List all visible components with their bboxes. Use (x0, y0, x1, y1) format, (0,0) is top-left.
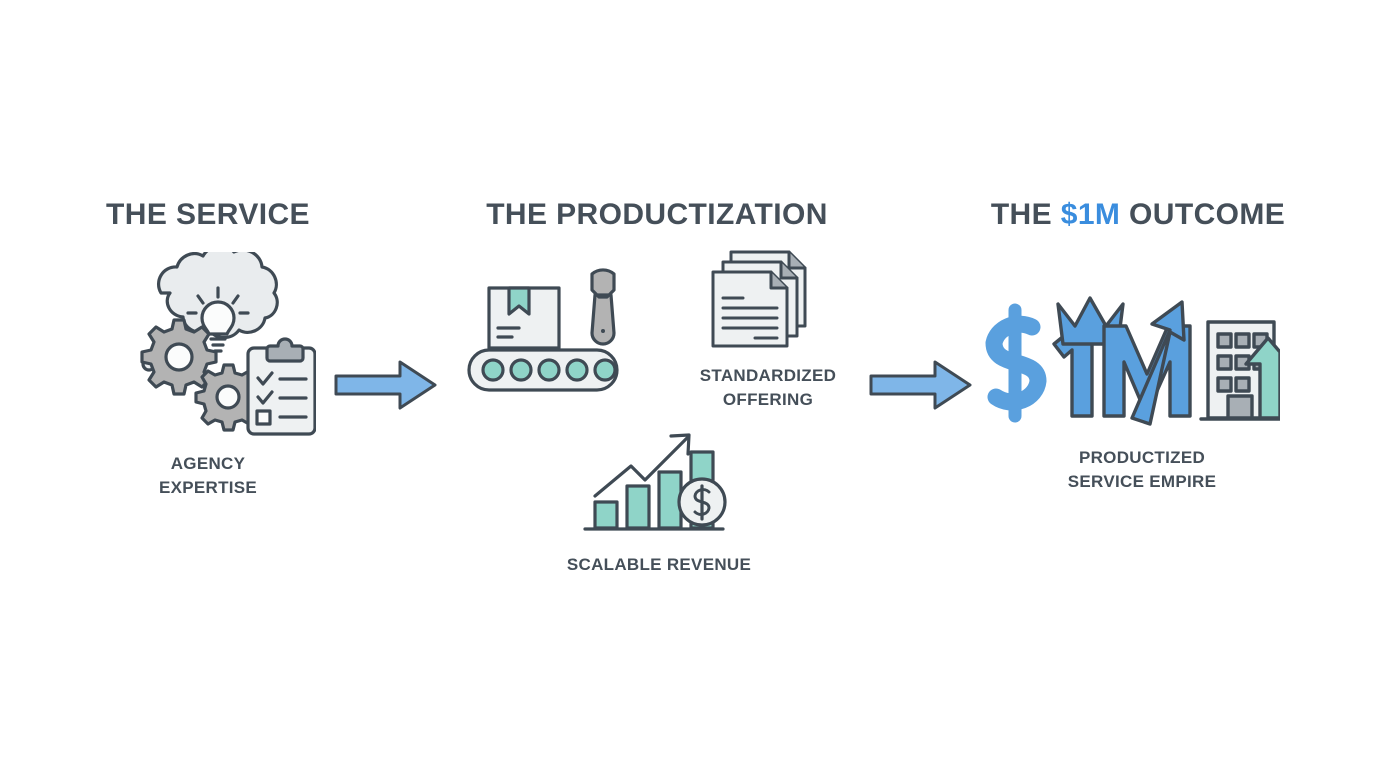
belt-icon (469, 350, 617, 390)
heading-the-1m-outcome: THE $1M OUTCOME (900, 198, 1376, 232)
caption-standardized-offering: STANDARDIZED OFFERING (662, 364, 874, 412)
standardized-documents-icon (705, 248, 813, 357)
building-door (1228, 396, 1252, 418)
wrench-icon (592, 270, 614, 344)
infographic-canvas: THE SERVICE THE PRODUCTIZATION THE $1M O… (0, 0, 1376, 768)
caption-scalable-revenue: SCALABLE REVENUE (547, 553, 771, 577)
heading-outcome-suffix: OUTCOME (1120, 198, 1285, 231)
agency-expertise-icon (104, 252, 316, 453)
heading-service-text: THE SERVICE (106, 198, 310, 231)
heading-the-productization: THE PRODUCTIZATION (415, 198, 899, 232)
heading-the-service: THE SERVICE (0, 198, 416, 232)
flow-arrow-2-icon (869, 358, 973, 417)
heading-outcome-prefix: THE (991, 198, 1061, 231)
belt-roller (483, 360, 503, 380)
chart-bar (627, 486, 649, 528)
belt-roller (539, 360, 559, 380)
caption-productized-service-empire: PRODUCTIZED SERVICE EMPIRE (1036, 446, 1248, 494)
belt-roller (511, 360, 531, 380)
million-outcome-icon (980, 292, 1280, 443)
dollar-coin-icon (679, 479, 725, 525)
package-box-icon (489, 288, 559, 348)
caption-agency-expertise: AGENCY EXPERTISE (108, 452, 308, 500)
heading-outcome-accent: $1M (1061, 198, 1121, 231)
belt-roller (595, 360, 615, 380)
document-sheet-front (713, 272, 787, 346)
dollar-sign-glyph (994, 310, 1038, 416)
clipboard-checklist-icon (248, 339, 315, 434)
heading-product-text: THE PRODUCTIZATION (486, 198, 828, 231)
flow-arrow-1-icon (334, 358, 438, 417)
scalable-revenue-chart-icon (583, 424, 731, 543)
chart-bar (595, 502, 617, 528)
belt-roller (567, 360, 587, 380)
conveyor-belt-icon (465, 262, 635, 399)
